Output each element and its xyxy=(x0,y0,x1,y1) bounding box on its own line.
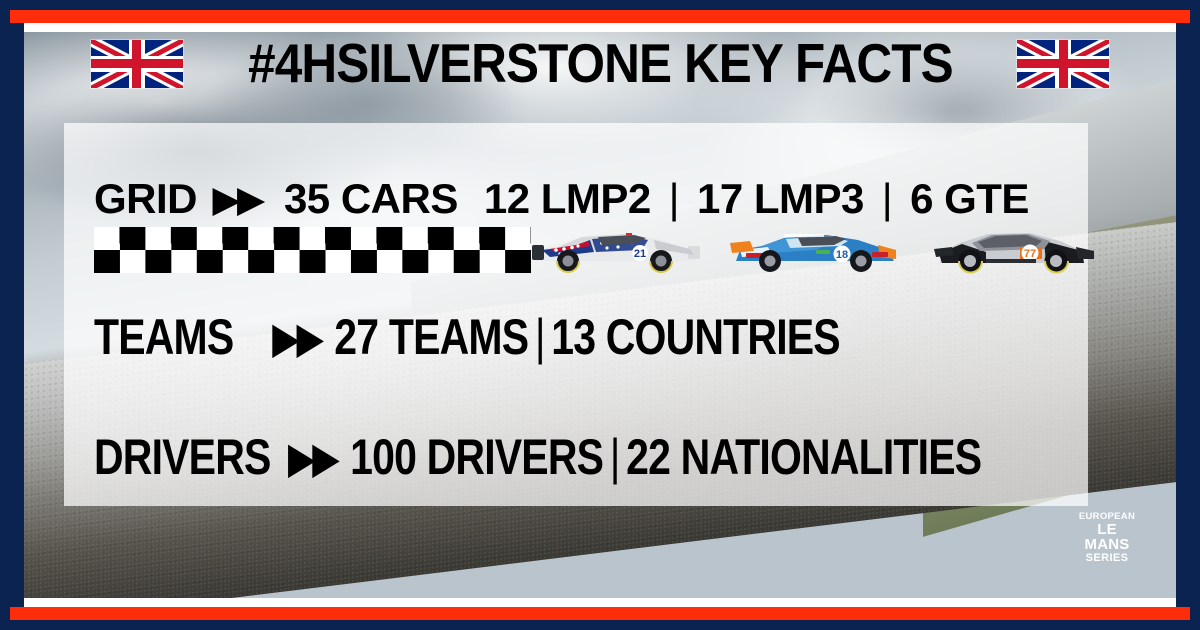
teams-countries: 13 COUNTRIES xyxy=(551,308,840,366)
lmp3-car: 18 xyxy=(728,219,900,275)
double-arrow-icon: ▶▶ xyxy=(273,314,321,362)
bottom-white-gap xyxy=(24,598,1176,607)
bottom-red-stripe xyxy=(10,607,1190,620)
drivers-count: 100 DRIVERS xyxy=(350,428,603,486)
top-white-gap xyxy=(24,23,1176,32)
fact-row-grid: GRID ▶▶ 35 CARS 12 LMP2 | 17 LMP3 | 6 GT… xyxy=(94,175,1070,223)
double-arrow-icon: ▶▶ xyxy=(289,434,337,482)
page-title: #4HSILVERSTONE KEY FACTS xyxy=(248,36,953,91)
drivers-nationalities: 22 NATIONALITIES xyxy=(626,428,981,486)
grid-lmp2-count: 12 LMP2 xyxy=(484,175,651,222)
grid-lmp3-count: 17 LMP3 xyxy=(697,175,864,222)
svg-text:77: 77 xyxy=(1024,248,1036,260)
checkered-flag xyxy=(94,227,531,273)
union-jack-flag xyxy=(91,40,183,88)
facts-panel: GRID ▶▶ 35 CARS 12 LMP2 | 17 LMP3 | 6 GT… xyxy=(64,123,1088,506)
drivers-label: DRIVERS xyxy=(94,428,271,486)
svg-text:21: 21 xyxy=(634,248,646,260)
teams-count: 27 TEAMS xyxy=(334,308,528,366)
svg-text:18: 18 xyxy=(836,249,848,261)
fact-row-teams: TEAMS ▶▶ 27 TEAMS | 13 COUNTRIES xyxy=(94,308,1070,366)
top-red-stripe xyxy=(10,10,1190,23)
teams-label: TEAMS xyxy=(94,308,233,366)
divider: | xyxy=(882,175,892,222)
lmp2-car: 21 xyxy=(530,219,702,275)
logo-line-le-mans: LE MANS xyxy=(1076,522,1138,552)
grid-total-cars: 35 CARS xyxy=(284,175,458,223)
outer-frame: EUROPEAN LE MANS SERIES #4HSILVERSTONE K… xyxy=(0,0,1200,630)
title-row: #4HSILVERSTONE KEY FACTS xyxy=(0,36,1200,91)
divider: | xyxy=(669,175,679,222)
double-arrow-icon: ▶▶ xyxy=(213,180,262,220)
logo-line-series: SERIES xyxy=(1086,552,1129,564)
divider: | xyxy=(610,428,620,486)
gte-car: 77 xyxy=(926,219,1098,275)
divider: | xyxy=(535,308,545,366)
fact-row-drivers: DRIVERS ▶▶ 100 DRIVERS | 22 NATIONALITIE… xyxy=(94,428,1070,486)
grid-gte-count: 6 GTE xyxy=(910,175,1029,222)
elms-logo: EUROPEAN LE MANS SERIES xyxy=(1076,512,1138,564)
union-jack-flag xyxy=(1017,40,1109,88)
grid-label: GRID xyxy=(94,175,197,223)
